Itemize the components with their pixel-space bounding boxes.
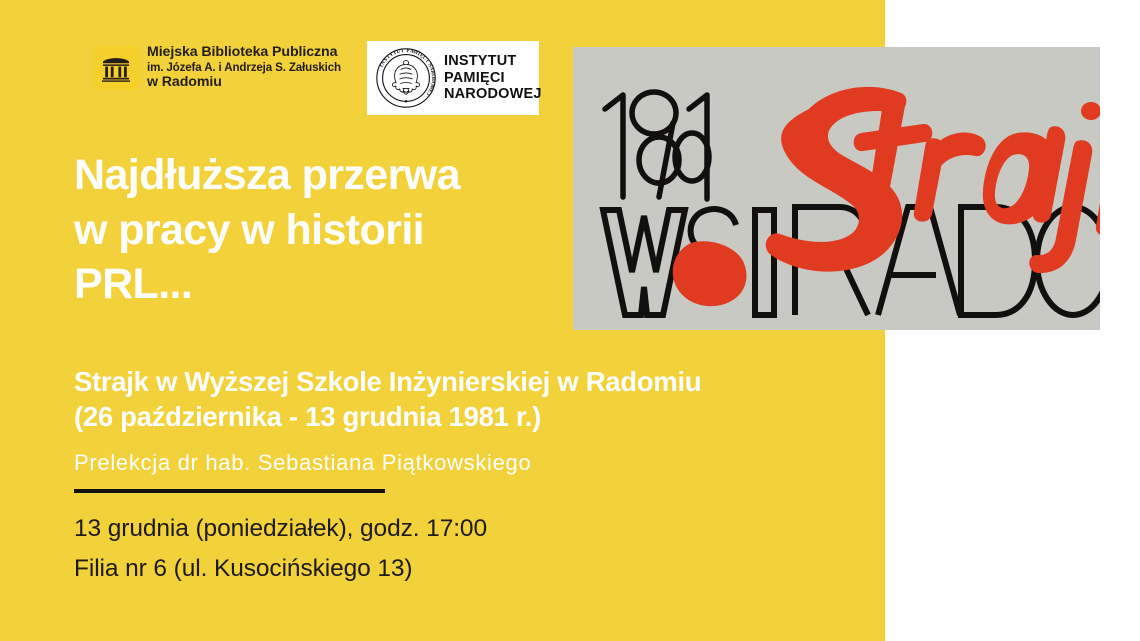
ipn-logo: I N S T Y T U T P A M I Ę C I N A (367, 41, 539, 115)
library-name-line3: w Radomiu (147, 74, 341, 91)
library-logo-text: Miejska Biblioteka Publiczna im. Józefa … (147, 44, 341, 91)
ipn-line1: INSTYTUT (444, 53, 542, 70)
ipn-logo-text: INSTYTUT PAMIĘCI NARODOWEJ (444, 53, 542, 104)
polish-eagle-seal-icon: I N S T Y T U T P A M I Ę C I N A (375, 47, 437, 109)
library-name-line2: im. Józefa A. i Andrzeja S. Załuskich (147, 61, 341, 75)
event-poster: Miejska Biblioteka Publiczna im. Józefa … (0, 0, 1140, 641)
ipn-line3: NARODOWEJ (444, 86, 542, 103)
library-logo: Miejska Biblioteka Publiczna im. Józefa … (94, 44, 341, 91)
lecturer-line: Prelekcja dr hab. Sebastiana Piątkowskie… (74, 450, 531, 476)
ipn-line2: PAMIĘCI (444, 70, 542, 87)
divider-rule (74, 489, 385, 493)
logo-row: Miejska Biblioteka Publiczna im. Józefa … (94, 44, 539, 115)
event-subtitle: Strajk w Wyższej Szkole Inżynierskiej w … (74, 364, 874, 434)
library-building-icon (94, 46, 138, 90)
historical-strike-poster-photo (573, 47, 1100, 330)
strike-poster-artwork (573, 47, 1100, 330)
page-title: Najdłuższa przerwa w pracy w historii PR… (74, 148, 574, 312)
event-details: 13 grudnia (poniedziałek), godz. 17:00 F… (74, 509, 487, 588)
library-name-line1: Miejska Biblioteka Publiczna (147, 44, 341, 61)
